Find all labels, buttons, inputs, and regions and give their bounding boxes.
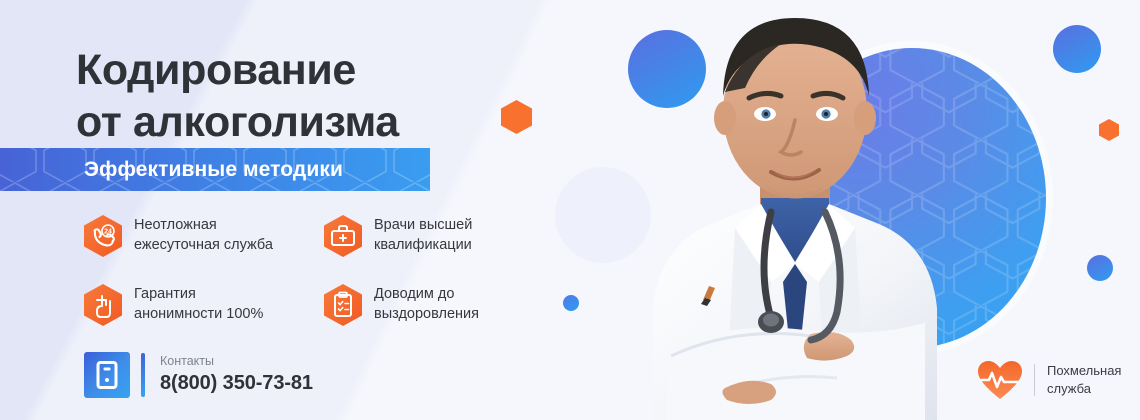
hand-anonymity-icon [84, 284, 122, 326]
contacts-label: Контакты [160, 354, 313, 370]
feature-line-1: Неотложная [134, 215, 273, 235]
blue-dot-decor-right [1087, 255, 1113, 281]
feature-line-2: квалификации [374, 235, 472, 255]
logo-line-2: служба [1047, 380, 1121, 398]
feature-line-1: Врачи высшей [374, 215, 472, 235]
subtitle-ribbon: Эффективные методики [0, 148, 430, 191]
feature-line-2: выздоровления [374, 304, 479, 324]
page-title: Кодирование от алкоголизма [76, 44, 636, 149]
feature-line-1: Гарантия [134, 284, 263, 304]
doctor-portrait-photo [575, 0, 995, 420]
mobile-phone-icon [84, 352, 130, 398]
contacts-text: Контакты 8(800) 350-73-81 [160, 354, 313, 396]
logo-line-1: Похмельная [1047, 362, 1121, 380]
promo-banner: Кодирование от алкоголизма Эффективные м… [0, 0, 1140, 420]
blue-circle-decor-top-right [1053, 25, 1101, 73]
svg-text:24: 24 [104, 229, 112, 236]
heart-pulse-icon [978, 360, 1022, 400]
feature-text: Доводим до выздоровления [374, 283, 479, 324]
feature-list: 24 Неотложная ежесуточная служба [84, 214, 554, 326]
feature-line-2: анонимности 100% [134, 304, 263, 324]
feature-item-anonymity: Гарантия анонимности 100% [84, 283, 324, 326]
feature-line-1: Доводим до [374, 284, 479, 304]
headline-line-2: от алкоголизма [76, 96, 636, 148]
feature-item-emergency: 24 Неотложная ежесуточная служба [84, 214, 324, 257]
orange-hexagon-decor-right [1099, 119, 1119, 141]
contacts-block[interactable]: Контакты 8(800) 350-73-81 [84, 352, 313, 398]
contacts-phone-number[interactable]: 8(800) 350-73-81 [160, 370, 313, 396]
feature-text: Неотложная ежесуточная служба [134, 214, 273, 255]
feature-text: Гарантия анонимности 100% [134, 283, 263, 324]
contacts-divider [141, 353, 145, 397]
phone-24h-icon: 24 [84, 215, 122, 257]
clipboard-checklist-icon [324, 284, 362, 326]
feature-row-2: Гарантия анонимности 100% Дов [84, 283, 554, 326]
feature-item-recovery: Доводим до выздоровления [324, 283, 554, 326]
logo-text: Похмельная служба [1047, 362, 1121, 397]
feature-text: Врачи высшей квалификации [374, 214, 472, 255]
logo-divider [1034, 364, 1035, 396]
brand-logo[interactable]: Похмельная служба [978, 360, 1121, 400]
headline-line-1: Кодирование [76, 46, 356, 94]
feature-item-doctors: Врачи высшей квалификации [324, 214, 554, 257]
subtitle-text: Эффективные методики [84, 148, 343, 191]
feature-line-2: ежесуточная служба [134, 235, 273, 255]
first-aid-kit-icon [324, 215, 362, 257]
feature-row-1: 24 Неотложная ежесуточная служба [84, 214, 554, 257]
